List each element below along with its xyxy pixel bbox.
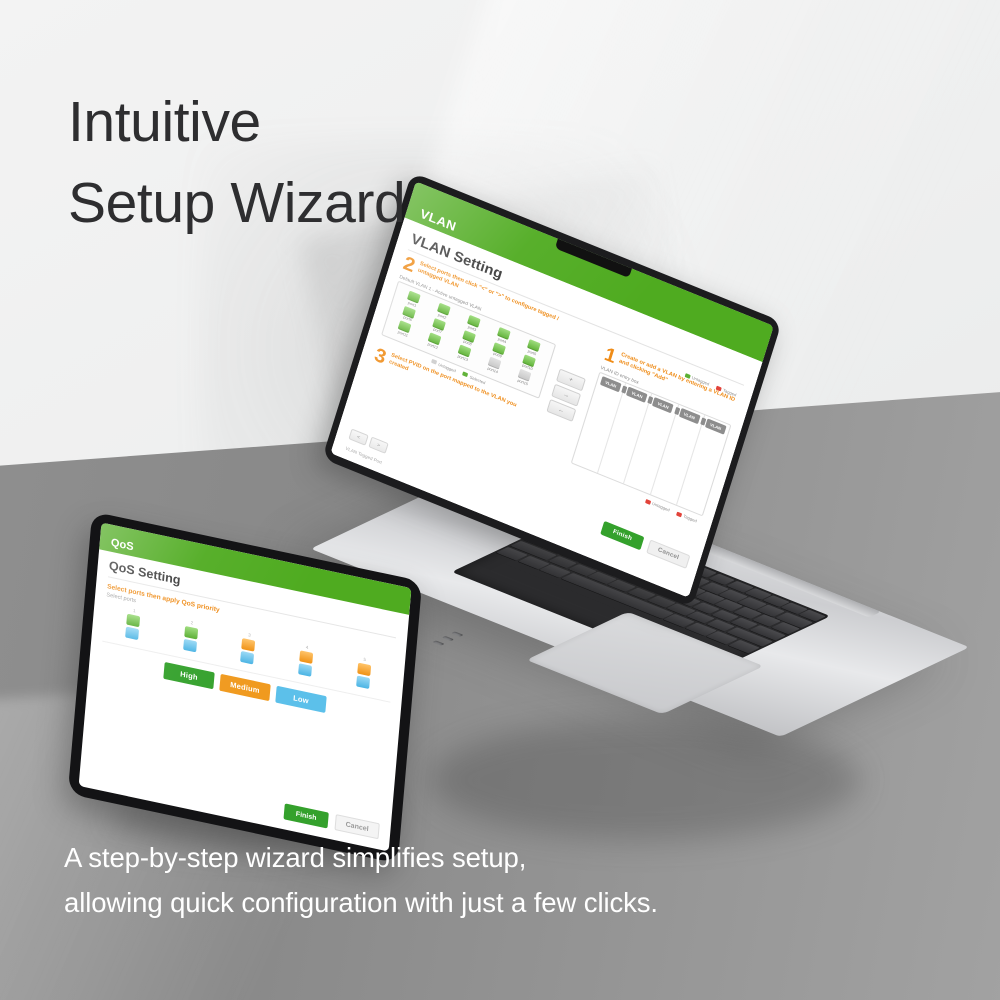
qos-port-label: 4 — [295, 642, 319, 652]
qos-port-item[interactable]: 3 — [235, 630, 262, 667]
pvid-prev-button[interactable]: < — [348, 428, 368, 445]
port-item[interactable]: port13 — [456, 344, 473, 362]
port-item[interactable]: port12 — [426, 332, 443, 350]
qos-port-label: 3 — [237, 630, 261, 640]
priority-low-button[interactable]: Low — [275, 686, 326, 713]
finish-button[interactable]: Finish — [283, 803, 328, 828]
port-icon — [127, 614, 141, 628]
port-item[interactable]: port14 — [486, 356, 503, 374]
port-icon — [242, 638, 256, 652]
qos-port-label: 1 — [122, 606, 146, 616]
caption-line-1: A step-by-step wizard simplifies setup, — [64, 836, 658, 881]
priority-medium-button[interactable]: Medium — [219, 674, 270, 701]
caption-line-2: allowing quick configuration with just a… — [64, 881, 658, 926]
selected-swatch-icon — [462, 372, 468, 378]
priority-high-button[interactable]: High — [163, 662, 214, 689]
page-title: Intuitive Setup Wizard — [68, 82, 405, 244]
qos-port-item[interactable]: 1 — [120, 606, 147, 643]
vlan-tag: VLAN — [705, 419, 727, 435]
port-icon — [299, 650, 313, 664]
vlan-tag: VLAN — [600, 376, 622, 392]
tablet-device: QoS QoS Setting Select ports then apply … — [80, 545, 410, 830]
step-1-number: 1 — [602, 346, 618, 367]
port-item[interactable]: port11 — [396, 320, 413, 338]
step-2-number: 2 — [401, 255, 417, 276]
port-icon — [184, 626, 198, 640]
vlan-tag: VLAN — [652, 397, 674, 413]
pvid-next-button[interactable]: > — [368, 437, 388, 454]
priority-icon — [241, 651, 255, 665]
laptop-side-ports — [419, 631, 500, 666]
qos-port-label: 2 — [180, 618, 204, 628]
finish-button[interactable]: Finish — [600, 521, 644, 551]
tablet-frame: QoS QoS Setting Select ports then apply … — [68, 511, 423, 863]
vlan-tag: VLAN — [679, 408, 701, 424]
qos-port-label: 5 — [353, 654, 377, 664]
untagged-swatch-icon — [645, 498, 651, 504]
priority-icon — [125, 627, 139, 641]
vlan-tag: VLAN — [626, 387, 648, 403]
qos-port-item[interactable]: 4 — [293, 642, 320, 679]
priority-icon — [183, 639, 197, 653]
step-3-number: 3 — [372, 346, 388, 367]
legend-label: Tagged — [683, 513, 698, 523]
tablet-screen[interactable]: QoS QoS Setting Select ports then apply … — [79, 522, 412, 851]
laptop-device: VLAN VLAN Setting 2 Select ports then cl… — [345, 230, 965, 790]
port-icon — [357, 663, 371, 677]
module-name-qos: QoS — [110, 537, 134, 554]
wizard-actions: Finish Cancel — [600, 521, 690, 569]
headline-line-1: Intuitive — [68, 82, 405, 163]
priority-icon — [356, 675, 370, 689]
priority-icon — [298, 663, 312, 677]
qos-port-item[interactable]: 2 — [177, 618, 204, 655]
wizard-actions: Finish Cancel — [283, 803, 379, 839]
untagged-swatch-icon — [431, 359, 437, 365]
cancel-button[interactable]: Cancel — [646, 539, 690, 569]
tagged-swatch-icon — [676, 511, 682, 517]
caption-text: A step-by-step wizard simplifies setup, … — [64, 836, 658, 925]
qos-port-item[interactable]: 5 — [350, 654, 377, 691]
port-item[interactable]: port15 — [516, 368, 533, 386]
headline-line-2: Setup Wizard — [68, 163, 405, 244]
